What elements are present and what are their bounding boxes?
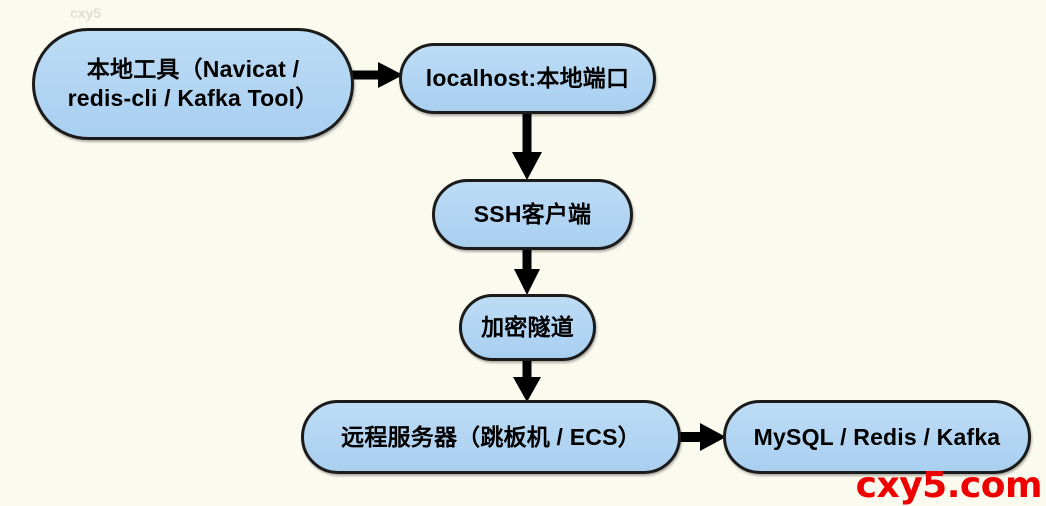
edge-remote-server-to-services — [679, 423, 726, 451]
node-backend-services-label: MySQL / Redis / Kafka — [740, 423, 1015, 452]
edge-localhost-to-ssh-client — [512, 114, 542, 180]
diagram-canvas: 本地工具（Navicat / redis-cli / Kafka Tool） l… — [0, 0, 1046, 500]
node-ssh-client-label: SSH客户端 — [460, 200, 606, 229]
edge-local-tool-to-localhost — [352, 62, 403, 88]
node-localhost-label: localhost:本地端口 — [412, 64, 643, 93]
node-ssh-client[interactable]: SSH客户端 — [432, 179, 633, 250]
node-backend-services[interactable]: MySQL / Redis / Kafka — [723, 400, 1031, 474]
node-remote-server-label: 远程服务器（跳板机 / ECS） — [327, 423, 655, 452]
node-local-tool[interactable]: 本地工具（Navicat / redis-cli / Kafka Tool） — [32, 28, 354, 140]
edge-ssh-client-to-tunnel — [514, 250, 540, 295]
node-encrypted-tunnel-label: 加密隧道 — [467, 313, 588, 342]
node-encrypted-tunnel[interactable]: 加密隧道 — [459, 294, 596, 361]
edge-tunnel-to-remote-server — [513, 361, 541, 402]
node-local-tool-label: 本地工具（Navicat / redis-cli / Kafka Tool） — [54, 55, 333, 113]
node-remote-server[interactable]: 远程服务器（跳板机 / ECS） — [301, 400, 681, 474]
watermark-bottom-right: cxy5.com — [856, 468, 1042, 504]
node-localhost[interactable]: localhost:本地端口 — [399, 43, 656, 114]
